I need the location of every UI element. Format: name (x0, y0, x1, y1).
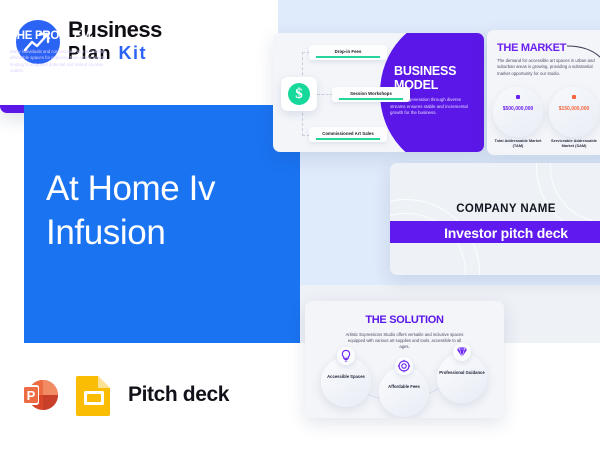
footer-label: Pitch deck (128, 383, 229, 407)
slide-the-market[interactable]: THE MARKET The demand for accessible art… (487, 30, 600, 155)
diamond-gem-icon (453, 343, 471, 361)
business-model-item-label: Commissioned Art Sales (309, 131, 387, 136)
poster-canvas: Business Plan Kit At Home Iv Infusion P (0, 0, 600, 449)
business-model-item[interactable]: Commissioned Art Sales (309, 127, 387, 142)
brand-logo-kit: Kit (119, 43, 148, 63)
solution-item-label: Professional Guidance (437, 370, 487, 376)
svg-text:P: P (27, 388, 36, 403)
market-stat-value: $150,000,000 (549, 106, 599, 112)
market-stat-value: $500,000,000 (493, 106, 543, 112)
business-model-item-label: Drop-in Fees (309, 49, 387, 54)
powerpoint-file-icon: P (18, 373, 62, 417)
stat-marker-dot (572, 95, 576, 99)
lightbulb-icon (337, 347, 355, 365)
solution-item[interactable]: Accessible Spaces (321, 357, 371, 407)
footer-format-row: P Pitch deck (18, 372, 229, 418)
company-name-title: COMPANY NAME (390, 203, 600, 215)
market-title: THE MARKET (497, 42, 566, 54)
company-name-subtitle: Investor pitch deck (390, 225, 600, 241)
company-name-band: Investor pitch deck (390, 221, 600, 243)
hero-title: At Home Iv Infusion (46, 167, 296, 255)
business-model-item[interactable]: Drop-in Fees (309, 45, 387, 60)
slide-company-name[interactable]: COMPANY NAME Investor pitch deck (390, 163, 600, 275)
solution-item-label: Affordable Fees (379, 384, 429, 390)
solution-body: Artistic Expressions Studio offers versa… (345, 332, 464, 351)
item-underline (339, 98, 403, 99)
problem-body: Many individuals and communities lack ac… (10, 49, 115, 75)
stat-marker-dot (516, 95, 520, 99)
market-stat-circle: $150,000,000 (549, 87, 599, 137)
problem-title: THE PROBLEM (10, 30, 90, 42)
business-model-item-label: Session Workshops (332, 91, 410, 96)
google-slides-file-icon (74, 373, 114, 417)
solution-item-label: Accessible Spaces (321, 374, 371, 380)
slide-the-solution[interactable]: THE SOLUTION Artistic Expressions Studio… (305, 301, 504, 418)
market-stat-circle: $500,000,000 (493, 87, 543, 137)
item-underline (316, 56, 380, 57)
slide-business-model[interactable]: BUSINESS MODEL Revenue generation throug… (273, 33, 484, 152)
hero-block: At Home Iv Infusion (24, 105, 300, 343)
solution-item[interactable]: Affordable Fees (379, 367, 429, 417)
market-stat-label: Total Addressable Market (TAM) (490, 138, 546, 149)
solution-title: THE SOLUTION (305, 314, 504, 326)
item-underline (316, 138, 380, 139)
solution-item[interactable]: Professional Guidance (437, 353, 487, 403)
business-model-item[interactable]: Session Workshops (332, 87, 410, 102)
target-ring-icon (395, 357, 413, 375)
curved-arrow-icon (565, 42, 600, 72)
dollar-coin-icon: $ (281, 77, 317, 111)
market-stat-label: Serviceable Addressable Market (SAM) (546, 138, 600, 149)
connector-line-middle (317, 94, 333, 95)
